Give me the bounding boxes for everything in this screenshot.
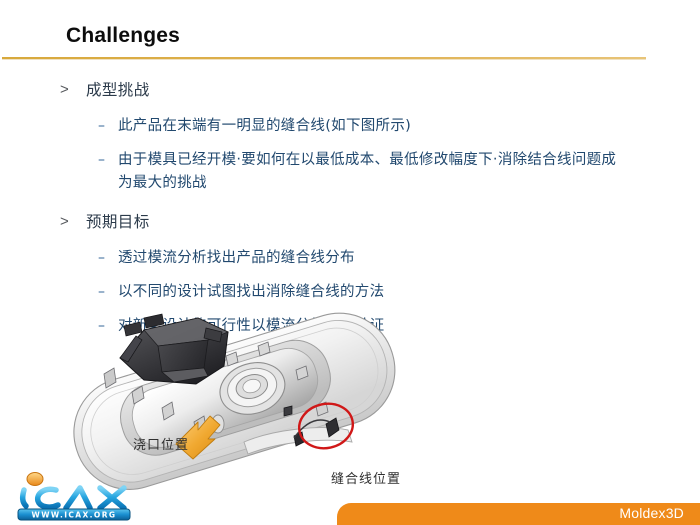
icax-logo-dot bbox=[27, 473, 43, 486]
page-title: Challenges bbox=[66, 24, 180, 48]
bullet-level2-text: 透过模流分析找出产品的缝合线分布 bbox=[118, 247, 355, 270]
weld-line-location-label: 缝合线位置 bbox=[331, 468, 401, 487]
gate-location-label: 浇口位置 bbox=[133, 434, 189, 453]
icax-logo-url-banner: WWW.ICAX.ORG bbox=[18, 509, 130, 520]
bullet-marker-dash: – bbox=[98, 247, 118, 270]
bullet-level1: > 成型挑战 bbox=[0, 78, 700, 102]
bullet-level2: – 透过模流分析找出产品的缝合线分布 bbox=[0, 247, 700, 270]
bullet-level2: – 此产品在末端有一明显的缝合线(如下图所示) bbox=[0, 115, 700, 138]
icax-logo-mark bbox=[23, 488, 124, 508]
bullet-marker-chevron: > bbox=[60, 78, 86, 102]
bullet-marker-dash: – bbox=[98, 149, 118, 172]
part-dark-cradle bbox=[120, 314, 228, 384]
bullet-marker-dash: – bbox=[98, 115, 118, 138]
icax-logo-url-text: WWW.ICAX.ORG bbox=[32, 511, 117, 520]
bullet-level1-text: 成型挑战 bbox=[86, 78, 150, 102]
moldex3d-brand: Moldex3D bbox=[619, 505, 684, 521]
title-divider-shadow bbox=[2, 59, 646, 60]
bullet-level1-text: 预期目标 bbox=[86, 210, 150, 234]
moldex3d-brand-text: Moldex3D bbox=[619, 505, 684, 521]
slide: Challenges > 成型挑战 – 此产品在末端有一明显的缝合线(如下图所示… bbox=[0, 0, 700, 525]
icax-logo: WWW.ICAX.ORG bbox=[8, 466, 140, 522]
bullet-level1: > 预期目标 bbox=[0, 210, 700, 234]
bullet-level2: – 由于模具已经开模‧要如何在以最低成本、最低修改幅度下‧消除结合线问题成为最大… bbox=[0, 149, 700, 195]
bullet-level2-text: 由于模具已经开模‧要如何在以最低成本、最低修改幅度下‧消除结合线问题成为最大的挑… bbox=[118, 149, 623, 195]
bullet-level2-text: 此产品在末端有一明显的缝合线(如下图所示) bbox=[118, 115, 411, 138]
bullet-marker-chevron: > bbox=[60, 210, 86, 234]
